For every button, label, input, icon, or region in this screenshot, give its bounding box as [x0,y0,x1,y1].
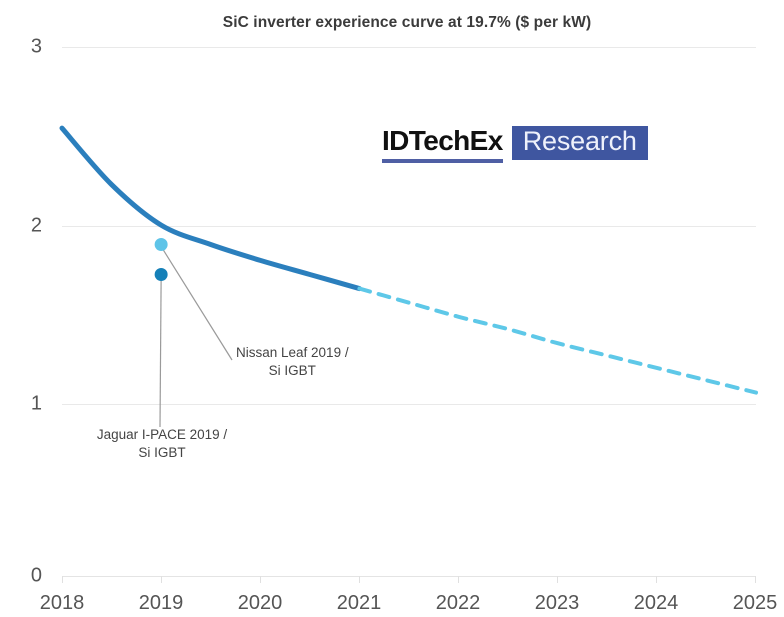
x-tick-label-2022: 2022 [436,592,481,615]
y-tick-label-3: 3 [2,36,42,59]
x-tick-label-2018: 2018 [40,592,85,615]
x-tick-mark-2021 [359,576,360,583]
y-tick-label-0: 0 [2,565,42,588]
annotation-jaguar-ipace: Jaguar I-PACE 2019 / Si IGBT [84,426,240,462]
gridline-1 [62,404,756,405]
x-tick-mark-2023 [557,576,558,583]
y-tick-label-1: 1 [2,393,42,416]
x-tick-label-2019: 2019 [139,592,184,615]
logo-research-badge: Research [512,126,648,160]
logo-name-wrap: IDTechEx [382,126,512,164]
x-tick-label-2021: 2021 [337,592,382,615]
y-tick-label-2: 2 [2,215,42,238]
chart-title: SiC inverter experience curve at 19.7% (… [0,14,784,32]
x-tick-mark-2019 [161,576,162,583]
logo-brand-name: IDTechEx [382,127,503,155]
x-tick-mark-2022 [458,576,459,583]
x-tick-label-2020: 2020 [238,592,283,615]
x-tick-mark-2024 [656,576,657,583]
x-tick-label-2025: 2025 [733,592,778,615]
x-tick-label-2023: 2023 [535,592,580,615]
x-tick-mark-2025 [755,576,756,583]
x-tick-mark-2018 [62,576,63,583]
x-tick-mark-2020 [260,576,261,583]
logo-underline [382,159,503,163]
x-axis-baseline [62,576,756,577]
idtechex-research-logo: IDTechEx Research [382,126,648,164]
gridline-2 [62,226,756,227]
gridline-3 [62,47,756,48]
annotation-nissan-leaf: Nissan Leaf 2019 / Si IGBT [236,344,349,380]
x-tick-label-2024: 2024 [634,592,679,615]
chart-container: SiC inverter experience curve at 19.7% (… [0,0,784,617]
